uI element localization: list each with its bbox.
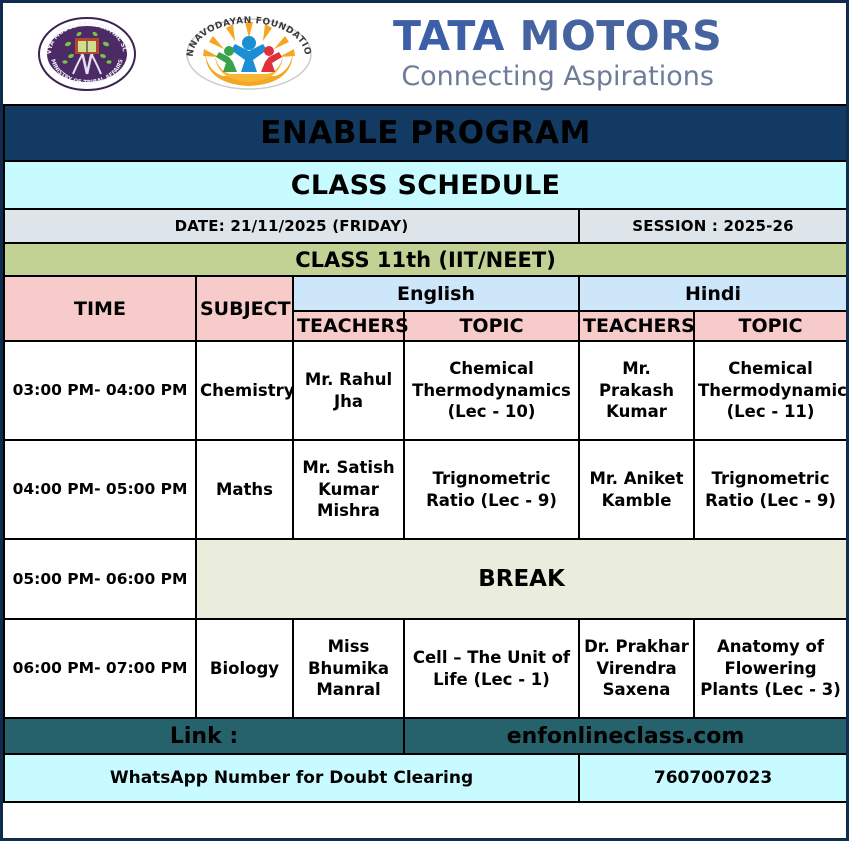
class-schedule-table: ENABLE PROGRAM CLASS SCHEDULE DATE: 21/1… [3,104,848,803]
date-session-row: DATE: 21/11/2025 (FRIDAY) SESSION : 2025… [4,209,847,243]
cell-hindi-teacher: Mr. Aniket Kamble [579,440,694,539]
date-label: DATE: 21/11/2025 (FRIDAY) [4,209,579,243]
cell-english-topic: Cell – The Unit of Life (Lec - 1) [404,619,579,718]
tata-motors-logo: TATA MOTORS Connecting Aspirations [393,15,722,91]
schedule-page: EKLAVYA MODEL RESIDENTIAL SCHOOL MINISTR… [0,0,849,841]
column-header-english-topic: TOPIC [404,311,579,341]
cell-hindi-topic: Trignometric Ratio (Lec - 9) [694,440,847,539]
cell-english-teacher: Miss Bhumika Manral [293,619,404,718]
cell-hindi-topic: Chemical Thermodynamics (Lec - 11) [694,341,847,440]
link-url[interactable]: enfonlineclass.com [404,718,847,754]
column-header-subject: SUBJECT [196,276,293,341]
cell-time: 06:00 PM- 07:00 PM [4,619,196,718]
cell-subject: Biology [196,619,293,718]
cell-hindi-teacher: Dr. Prakhar Virendra Saxena [579,619,694,718]
logo-banner: EKLAVYA MODEL RESIDENTIAL SCHOOL MINISTR… [3,3,846,104]
table-row: 04:00 PM- 05:00 PM Maths Mr. Satish Kuma… [4,440,847,539]
link-row: Link : enfonlineclass.com [4,718,847,754]
motors-word: MOTORS [520,12,723,60]
cell-hindi-topic: Anatomy of Flowering Plants (Lec - 3) [694,619,847,718]
column-header-hindi-topic: TOPIC [694,311,847,341]
class-label: CLASS 11th (IIT/NEET) [4,243,847,276]
tata-word: TATA [393,12,505,60]
class-row: CLASS 11th (IIT/NEET) [4,243,847,276]
cell-english-teacher: Mr. Satish Kumar Mishra [293,440,404,539]
ennavodayan-foundation-logo: ENNAVODAYAN FOUNDATION [179,16,319,92]
table-row: 06:00 PM- 07:00 PM Biology Miss Bhumika … [4,619,847,718]
cell-hindi-teacher: Mr. Prakash Kumar [579,341,694,440]
page-title: ENABLE PROGRAM [4,105,847,161]
column-header-english-teachers: TEACHERS [293,311,404,341]
tata-motors-wordmark: TATA MOTORS [393,15,722,58]
whatsapp-row: WhatsApp Number for Doubt Clearing 76070… [4,754,847,802]
column-header-hindi: Hindi [579,276,847,311]
break-label: BREAK [196,539,847,619]
tata-motors-tagline: Connecting Aspirations [401,61,714,92]
link-label: Link : [4,718,404,754]
cell-english-topic: Chemical Thermodynamics (Lec - 10) [404,341,579,440]
column-header-english: English [293,276,579,311]
page-subtitle: CLASS SCHEDULE [4,161,847,209]
column-header-hindi-teachers: TEACHERS [579,311,694,341]
cell-time: 05:00 PM- 06:00 PM [4,539,196,619]
cell-subject: Chemistry [196,341,293,440]
cell-time: 03:00 PM- 04:00 PM [4,341,196,440]
cell-time: 04:00 PM- 05:00 PM [4,440,196,539]
eklavya-model-residential-school-logo: EKLAVYA MODEL RESIDENTIAL SCHOOL MINISTR… [37,16,137,92]
subtitle-row: CLASS SCHEDULE [4,161,847,209]
whatsapp-label: WhatsApp Number for Doubt Clearing [4,754,579,802]
session-label: SESSION : 2025-26 [579,209,847,243]
cell-english-topic: Trignometric Ratio (Lec - 9) [404,440,579,539]
table-row: 03:00 PM- 04:00 PM Chemistry Mr. Rahul J… [4,341,847,440]
cell-subject: Maths [196,440,293,539]
cell-english-teacher: Mr. Rahul Jha [293,341,404,440]
column-header-time: TIME [4,276,196,341]
break-row: 05:00 PM- 06:00 PM BREAK [4,539,847,619]
table-header-row-1: TIME SUBJECT English Hindi [4,276,847,311]
whatsapp-number[interactable]: 7607007023 [579,754,847,802]
program-title-row: ENABLE PROGRAM [4,105,847,161]
